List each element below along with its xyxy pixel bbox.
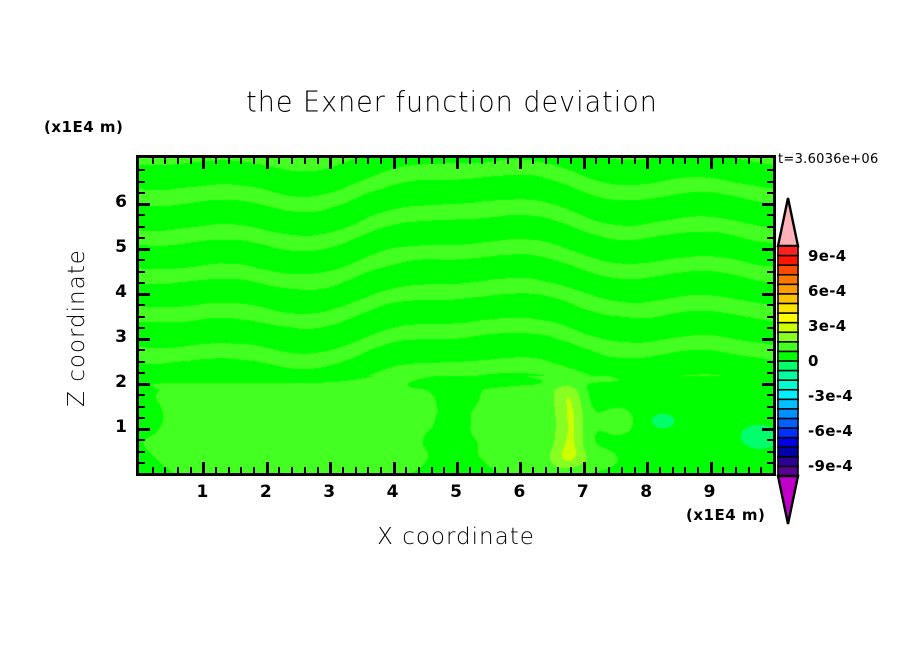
x-tick <box>329 462 332 473</box>
x-tick-top <box>380 158 382 164</box>
y-tick <box>139 349 145 351</box>
y-tick <box>139 214 145 216</box>
x-tick-label: 3 <box>314 482 344 502</box>
x-tick <box>710 462 713 473</box>
x-tick-top <box>304 158 306 164</box>
x-tick <box>621 467 623 473</box>
x-tick-top <box>760 158 762 164</box>
y-axis-unit-label: (x1E4 m) <box>44 118 123 136</box>
y-tick <box>139 203 150 206</box>
x-tick-top <box>494 158 496 164</box>
x-tick <box>507 467 509 473</box>
x-tick <box>570 467 572 473</box>
y-tick <box>139 192 145 194</box>
x-tick-top <box>228 158 230 164</box>
colorbar-band <box>778 304 798 314</box>
y-tick <box>139 181 145 183</box>
x-tick-top <box>697 158 699 164</box>
y-tick <box>139 271 145 273</box>
colorbar-band <box>778 399 798 409</box>
x-tick <box>532 467 534 473</box>
x-tick <box>456 462 459 473</box>
x-tick-label: 2 <box>251 482 281 502</box>
x-tick-top <box>393 158 396 169</box>
x-tick <box>164 467 166 473</box>
x-tick-top <box>621 158 623 164</box>
x-tick-top <box>519 158 522 169</box>
y-tick-right <box>767 181 773 183</box>
y-tick <box>139 282 145 284</box>
x-tick-label: 4 <box>378 482 408 502</box>
colorbar-band <box>778 275 798 285</box>
colorbar-band <box>778 294 798 304</box>
x-tick-label: 6 <box>504 482 534 502</box>
colorbar-band <box>778 361 798 371</box>
x-tick-top <box>595 158 597 164</box>
colorbar: 9e-46e-43e-40-3e-4-6e-4-9e-4 <box>770 196 810 526</box>
x-tick <box>608 467 610 473</box>
y-tick <box>139 226 145 228</box>
x-tick-top <box>659 158 661 164</box>
x-tick <box>240 467 242 473</box>
y-tick <box>139 439 145 441</box>
x-tick-top <box>735 158 737 164</box>
x-tick <box>367 467 369 473</box>
x-tick <box>735 467 737 473</box>
x-tick-top <box>469 158 471 164</box>
x-tick-top <box>646 158 649 169</box>
colorbar-band <box>778 419 798 429</box>
y-tick <box>139 304 145 306</box>
y-tick <box>139 338 150 341</box>
x-tick <box>304 467 306 473</box>
x-tick <box>291 467 293 473</box>
y-tick-label: 5 <box>97 237 127 257</box>
x-tick-top <box>177 158 179 164</box>
y-tick <box>139 361 145 363</box>
x-tick <box>278 467 280 473</box>
page-title: the Exner function deviation <box>0 87 904 118</box>
x-tick-top <box>367 158 369 164</box>
colorbar-band <box>778 313 798 323</box>
x-tick <box>202 462 205 473</box>
x-tick-label: 7 <box>568 482 598 502</box>
y-tick <box>139 237 145 239</box>
x-tick-label: 5 <box>441 482 471 502</box>
x-tick-top <box>266 158 269 169</box>
x-tick <box>152 467 154 473</box>
x-tick-top <box>583 158 586 169</box>
x-tick <box>748 467 750 473</box>
contour-plot-area <box>136 155 776 476</box>
x-tick-top <box>164 158 166 164</box>
y-tick <box>139 259 145 261</box>
x-tick <box>595 467 597 473</box>
colorbar-band <box>778 438 798 448</box>
x-tick <box>380 467 382 473</box>
x-tick <box>393 462 396 473</box>
x-tick <box>418 467 420 473</box>
y-tick-label: 2 <box>97 372 127 392</box>
y-axis-title: Z coordinate <box>64 218 90 438</box>
page-title-text: the Exner function deviation <box>246 86 658 119</box>
y-tick <box>139 372 145 374</box>
colorbar-tick-label: 0 <box>808 352 819 370</box>
x-tick <box>215 467 217 473</box>
x-tick-top <box>215 158 217 164</box>
x-tick <box>228 467 230 473</box>
x-tick <box>646 462 649 473</box>
x-tick <box>443 467 445 473</box>
x-tick-top <box>456 158 459 169</box>
colorbar-tick-label: 3e-4 <box>808 317 846 335</box>
colorbar-tick-label: -9e-4 <box>808 457 853 475</box>
x-tick-top <box>418 158 420 164</box>
x-tick-top <box>342 158 344 164</box>
x-tick-top <box>557 158 559 164</box>
x-tick <box>494 467 496 473</box>
contour-field <box>139 158 773 473</box>
x-tick-top <box>355 158 357 164</box>
x-tick-top <box>278 158 280 164</box>
x-tick-top <box>253 158 255 164</box>
x-tick-top <box>405 158 407 164</box>
x-tick <box>697 467 699 473</box>
x-tick-top <box>684 158 686 164</box>
x-tick-label: 1 <box>187 482 217 502</box>
x-tick <box>405 467 407 473</box>
x-tick <box>583 462 586 473</box>
x-tick-top <box>773 158 776 169</box>
figure-canvas: the Exner function deviation (x1E4 m) t=… <box>0 0 904 654</box>
x-tick <box>266 462 269 473</box>
x-tick <box>557 467 559 473</box>
x-tick-label: 9 <box>695 482 725 502</box>
x-tick-top <box>672 158 674 164</box>
colorbar-band <box>778 265 798 275</box>
x-tick <box>481 467 483 473</box>
x-tick-top <box>190 158 192 164</box>
colorbar-band <box>778 256 798 266</box>
y-tick <box>139 327 145 329</box>
x-tick-top <box>202 158 205 169</box>
x-tick <box>469 467 471 473</box>
colorbar-over-arrow <box>778 198 798 246</box>
colorbar-band <box>778 380 798 390</box>
colorbar-band <box>778 323 798 333</box>
x-tick-top <box>710 158 713 169</box>
colorbar-tick-label: -3e-4 <box>808 387 853 405</box>
colorbar-band <box>778 246 798 256</box>
colorbar-band <box>778 409 798 419</box>
colorbar-band <box>778 284 798 294</box>
colorbar-band <box>778 332 798 342</box>
x-tick-top <box>329 158 332 169</box>
colorbar-band <box>778 390 798 400</box>
x-tick-top <box>634 158 636 164</box>
x-tick <box>519 462 522 473</box>
x-tick <box>431 467 433 473</box>
x-tick <box>760 467 762 473</box>
y-tick <box>139 293 150 296</box>
x-tick-top <box>507 158 509 164</box>
x-tick <box>672 467 674 473</box>
x-tick <box>634 467 636 473</box>
x-tick <box>722 467 724 473</box>
x-tick-top <box>748 158 750 164</box>
y-tick-label: 6 <box>97 192 127 212</box>
x-tick <box>177 467 179 473</box>
x-tick <box>545 467 547 473</box>
y-tick-right <box>767 192 773 194</box>
x-tick <box>355 467 357 473</box>
colorbar-tick-label: 6e-4 <box>808 282 846 300</box>
x-tick <box>342 467 344 473</box>
x-tick-top <box>570 158 572 164</box>
x-tick <box>684 467 686 473</box>
x-tick-top <box>443 158 445 164</box>
y-tick <box>139 462 145 464</box>
colorbar-band <box>778 428 798 438</box>
x-axis-title: X coordinate <box>136 524 776 550</box>
colorbar-tick-label: 9e-4 <box>808 247 846 265</box>
y-tick-label: 1 <box>97 417 127 437</box>
x-tick-top <box>722 158 724 164</box>
colorbar-band <box>778 351 798 361</box>
y-tick <box>139 428 150 431</box>
y-tick <box>139 383 150 386</box>
y-tick <box>139 406 145 408</box>
y-tick <box>139 394 145 396</box>
x-tick-top <box>317 158 319 164</box>
x-tick <box>659 467 661 473</box>
y-tick <box>139 417 145 419</box>
x-tick-top <box>481 158 483 164</box>
x-tick <box>253 467 255 473</box>
x-tick-top <box>532 158 534 164</box>
x-tick-top <box>152 158 154 164</box>
y-tick <box>139 248 150 251</box>
y-tick <box>139 451 145 453</box>
x-tick-top <box>291 158 293 164</box>
colorbar-under-arrow <box>778 476 798 524</box>
x-axis-unit-label: (x1E4 m) <box>686 506 765 524</box>
colorbar-tick-label: -6e-4 <box>808 422 853 440</box>
y-tick <box>139 169 145 171</box>
colorbar-swatches <box>770 196 810 526</box>
colorbar-band <box>778 342 798 352</box>
y-tick <box>139 316 145 318</box>
y-tick-right <box>767 169 773 171</box>
colorbar-band <box>778 371 798 381</box>
colorbar-band <box>778 457 798 467</box>
x-tick <box>317 467 319 473</box>
y-tick-label: 4 <box>97 282 127 302</box>
x-tick <box>190 467 192 473</box>
x-tick-top <box>431 158 433 164</box>
x-tick-top <box>240 158 242 164</box>
y-tick-label: 3 <box>97 327 127 347</box>
x-tick-top <box>608 158 610 164</box>
x-tick-top <box>545 158 547 164</box>
timestamp-annotation: t=3.6036e+06 <box>778 152 879 167</box>
colorbar-band <box>778 447 798 457</box>
x-tick-label: 8 <box>631 482 661 502</box>
